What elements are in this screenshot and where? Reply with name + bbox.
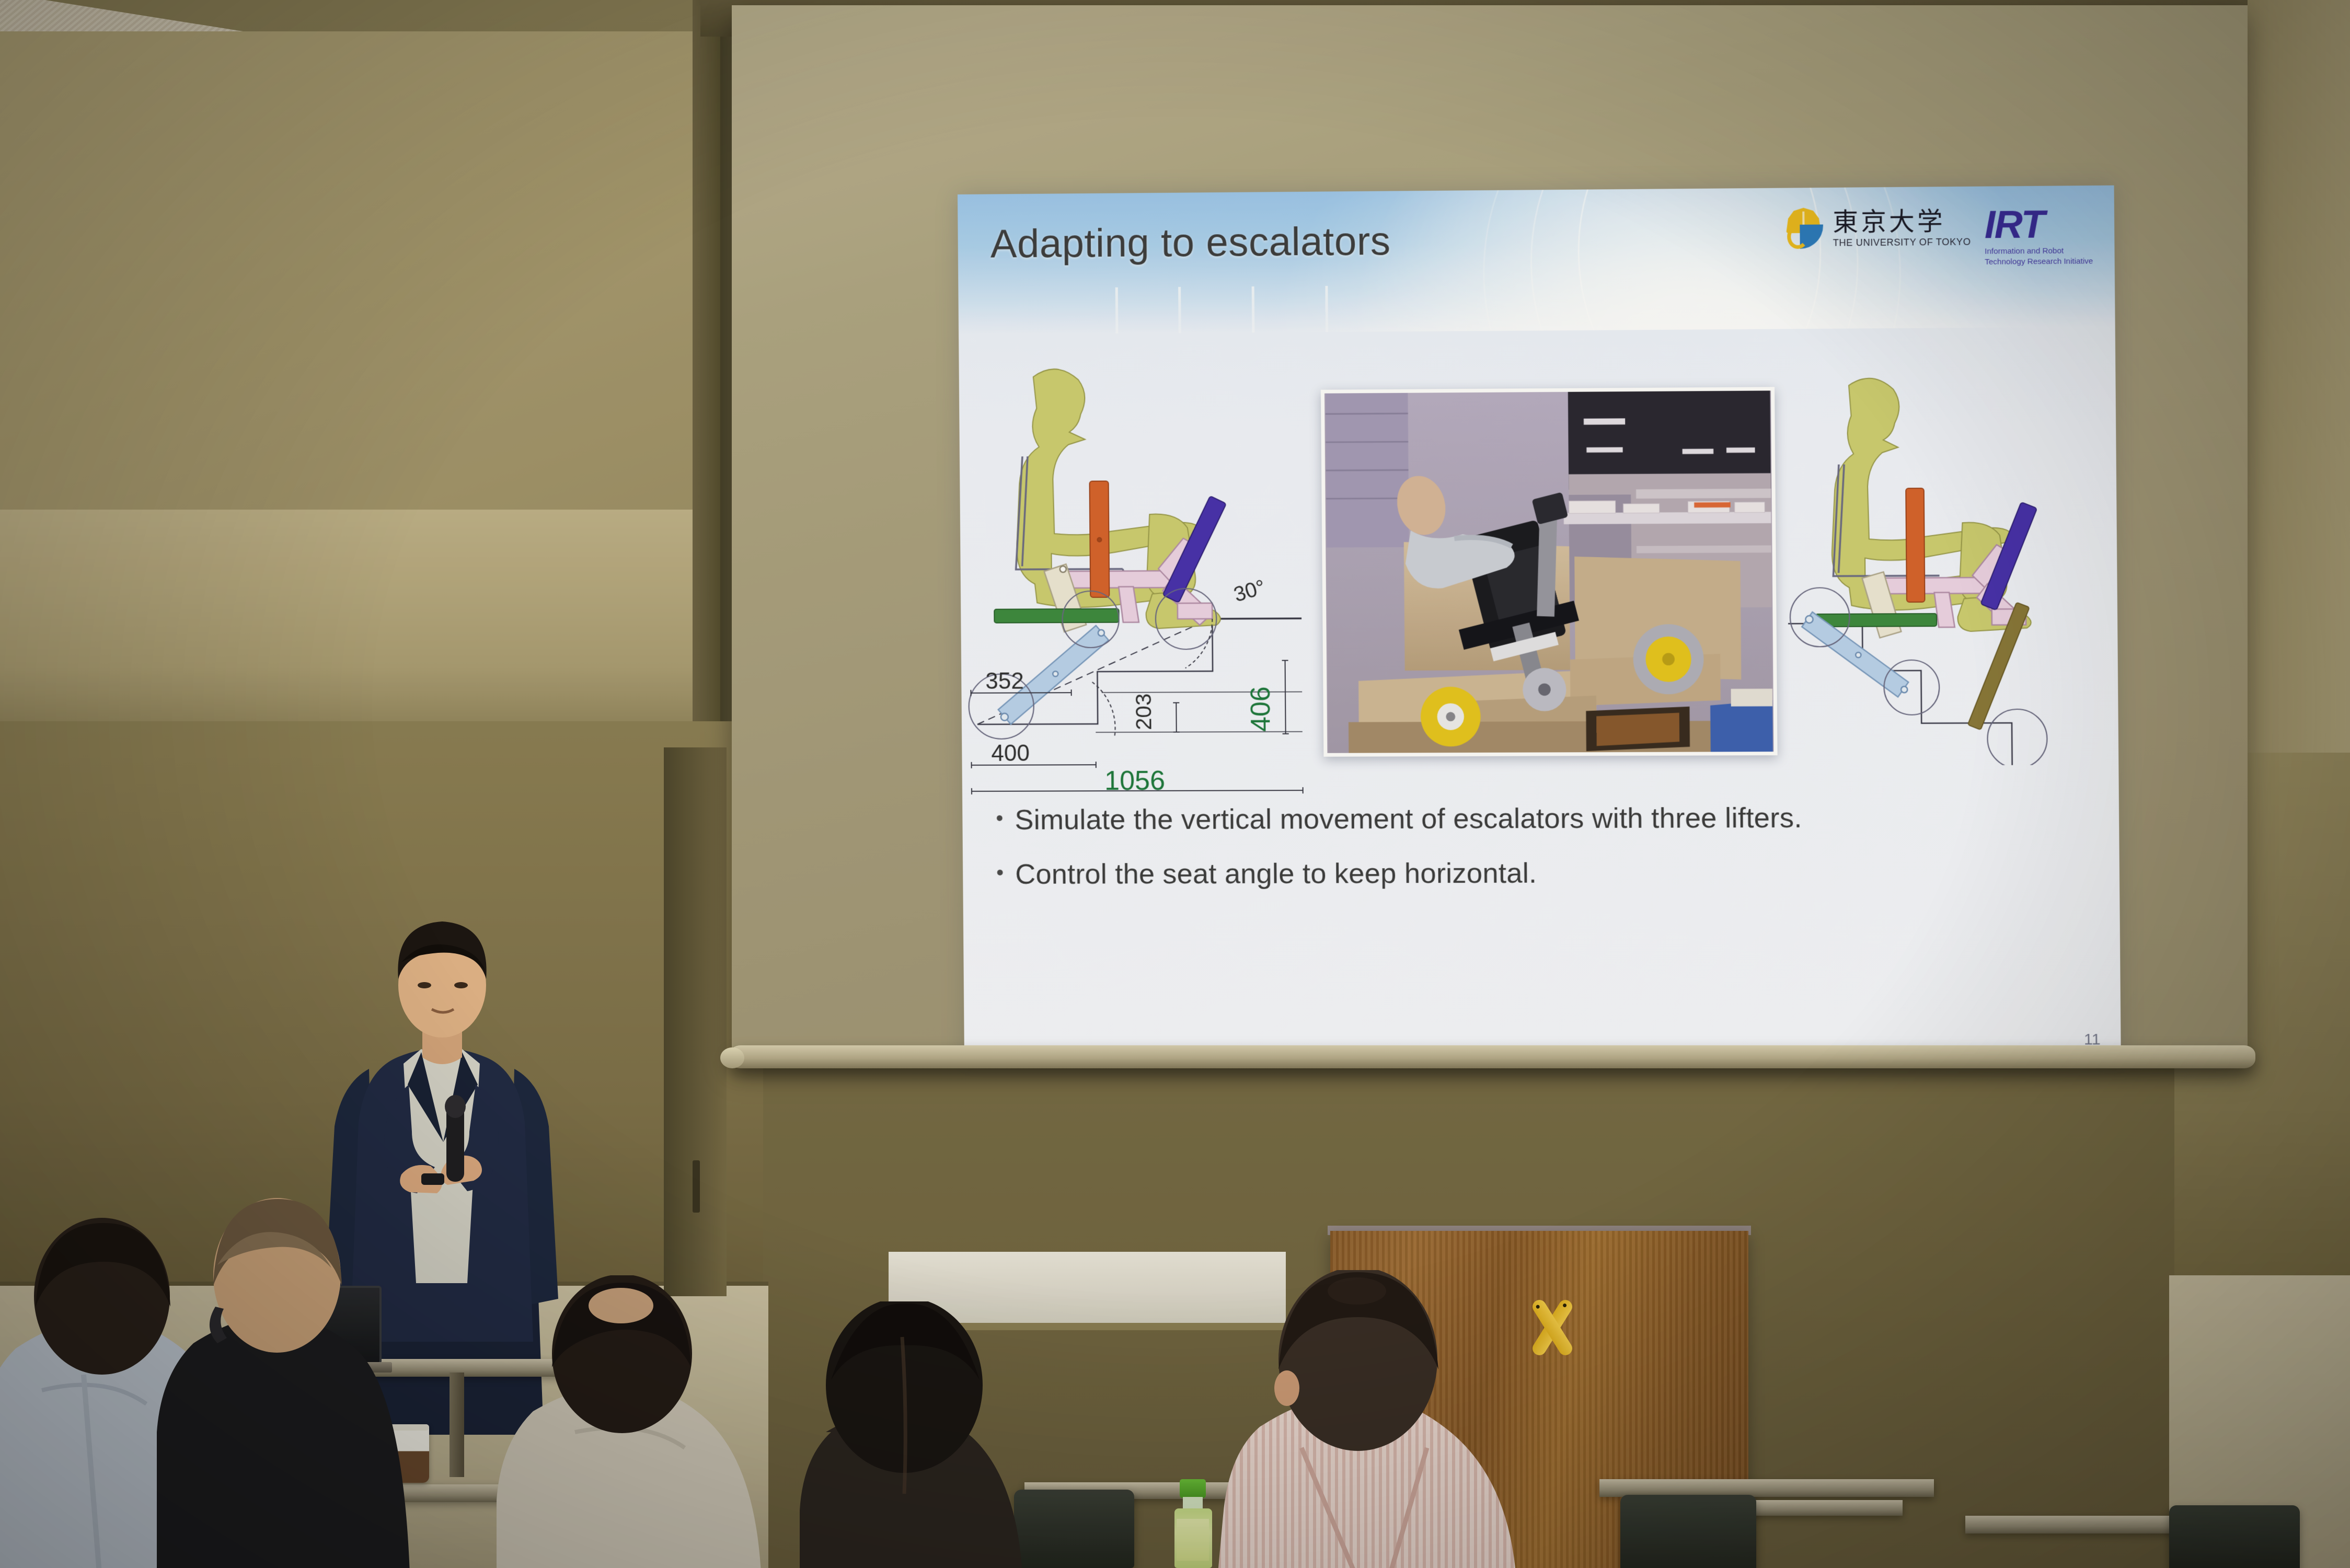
list-item: • Simulate the vertical movement of esca… (996, 801, 2072, 837)
ginkgo-leaf-icon (1782, 206, 1827, 251)
university-of-tokyo-logo: 東京大学 THE UNIVERSITY OF TOKYO (1782, 205, 1971, 251)
desk (1965, 1516, 2185, 1534)
university-name-jp: 東京大学 (1833, 209, 1971, 235)
dimension-406: 406 (1246, 686, 1276, 732)
dimension-352: 352 (985, 668, 1024, 694)
slide-body: 352 400 1056 203 406 30° (959, 327, 2121, 1059)
irt-wordmark: IRT (1984, 204, 2096, 244)
wall-left-edge (693, 0, 724, 763)
upper-left-wall-ledge (0, 510, 716, 734)
bullet-text: Control the seat angle to keep horizonta… (1015, 857, 1537, 891)
robotic-wheelchair-photo (1321, 387, 1778, 757)
slide-header: Adapting to escalators 東京大学 THE UNIVERSI… (958, 186, 2115, 335)
slide-bullet-list: • Simulate the vertical movement of esca… (996, 801, 2073, 912)
audience-member-dark-jacket (157, 1186, 481, 1568)
green-tea-bottle (1173, 1479, 1213, 1568)
door-handle[interactable] (693, 1160, 700, 1213)
dimension-203: 203 (1131, 694, 1156, 730)
wheelchair-descending-step-diagram (1786, 374, 2102, 766)
dimension-30deg: 30° (1231, 575, 1268, 606)
desk (1599, 1479, 1934, 1497)
right-wall (2242, 0, 2350, 774)
projection-screen-bottom-bar[interactable] (729, 1045, 2255, 1068)
slide-title: Adapting to escalators (990, 218, 1390, 267)
wheelchair-ascending-step-diagram: 352 400 1056 203 406 30° (964, 356, 1313, 798)
list-item: • Control the seat angle to keep horizon… (996, 856, 2073, 892)
logo-group: 東京大学 THE UNIVERSITY OF TOKYO IRT Informa… (1782, 204, 2096, 269)
bullet-marker: • (996, 808, 1003, 829)
irt-subtitle: Information and Robot Technology Researc… (1985, 246, 2096, 268)
dimension-400: 400 (991, 741, 1030, 766)
chair[interactable] (2169, 1505, 2300, 1568)
bullet-marker: • (996, 862, 1004, 883)
university-name-en: THE UNIVERSITY OF TOKYO (1833, 237, 1971, 248)
irt-logo: IRT Information and Robot Technology Res… (1984, 204, 2096, 268)
door-recess (664, 747, 727, 1296)
audience-member-white-shirt (497, 1275, 842, 1568)
audience-member-pink-striped-shirt (1218, 1270, 1594, 1568)
chair[interactable] (1620, 1495, 1756, 1568)
bullet-text: Simulate the vertical movement of escala… (1015, 802, 1802, 837)
lecture-hall-photo: Adapting to escalators 東京大学 THE UNIVERSI… (0, 0, 2350, 1568)
presentation-slide: Adapting to escalators 東京大学 THE UNIVERSI… (958, 186, 2121, 1059)
audience-member-dark-hair (800, 1301, 1072, 1568)
projection-screen-bar-knob[interactable] (720, 1047, 744, 1068)
dimension-1056: 1056 (1104, 766, 1165, 796)
